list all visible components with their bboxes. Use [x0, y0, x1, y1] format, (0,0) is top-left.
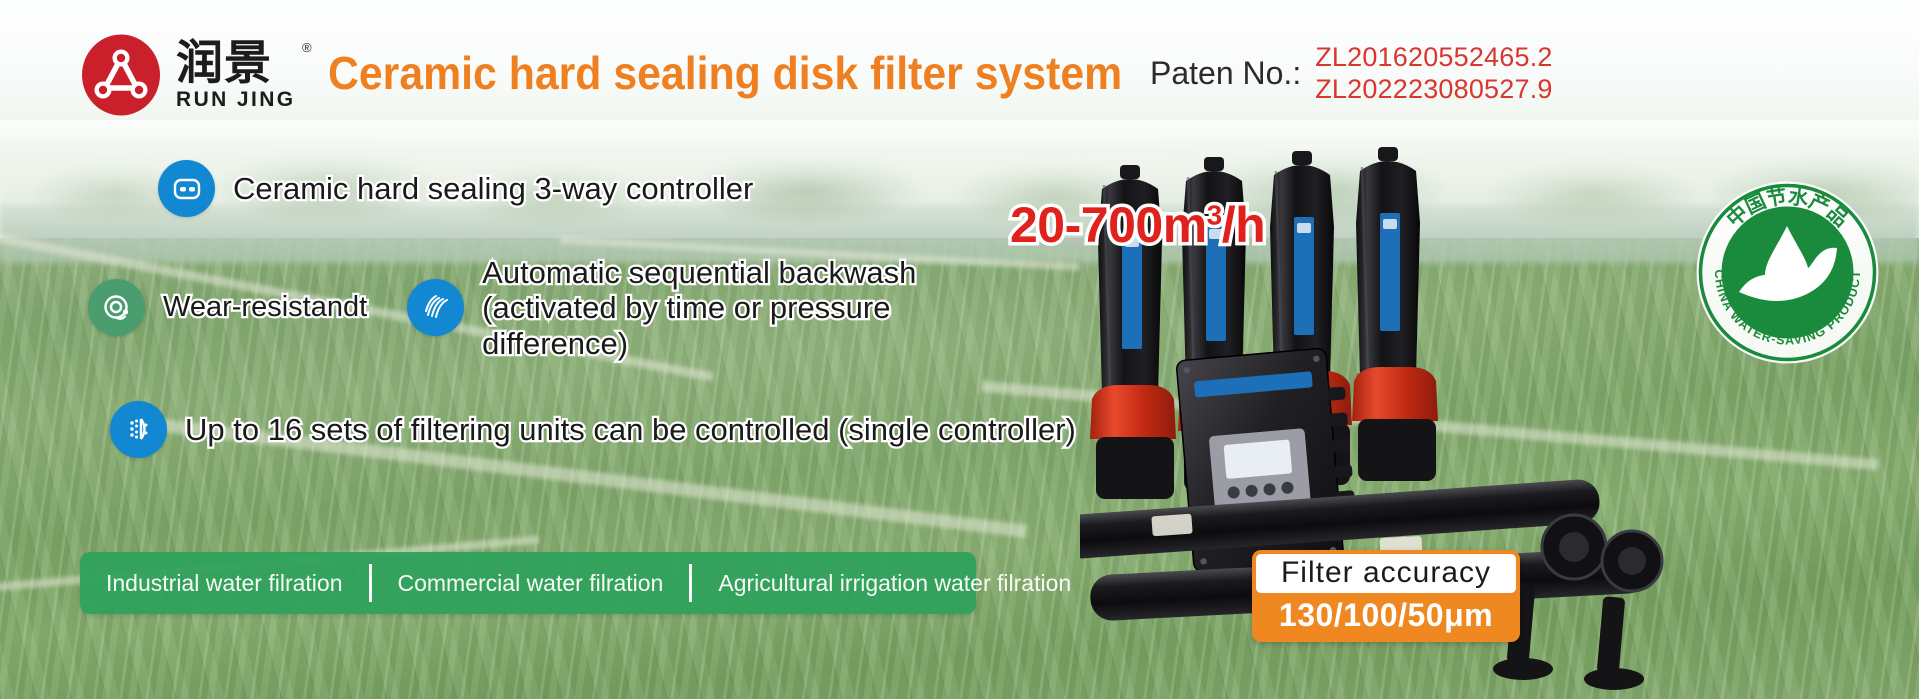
flow-rate-value: 20-700m3/h	[1010, 196, 1265, 254]
application-tag: Agricultural irrigation water filration	[692, 570, 1097, 597]
feature-item-units: Up to 16 sets of filtering units can be …	[110, 401, 1030, 458]
feature-label: Wear-resistandt	[163, 291, 367, 324]
feature-item-controller: Ceramic hard sealing 3-way controller	[158, 160, 1030, 217]
controller-icon	[158, 160, 215, 217]
backwash-waves-icon	[407, 279, 464, 336]
wear-ring-icon	[88, 279, 145, 336]
banner-header: 润景 ® RUN JING Ceramic hard sealing disk …	[0, 0, 1919, 145]
page-title: Ceramic hard sealing disk filter system	[328, 46, 1122, 100]
feature-label-line2: (activated by time or pressure differenc…	[482, 290, 1030, 361]
flow-rate-number: 20-700m	[1010, 197, 1207, 253]
brand-name-en: RUN JING	[176, 88, 296, 112]
patent-number: ZL201620552465.2	[1315, 42, 1552, 73]
application-tag: Industrial water filration	[80, 570, 369, 597]
feature-label-backwash: Automatic sequential backwash (activated…	[482, 255, 1030, 361]
feature-label: Up to 16 sets of filtering units can be …	[185, 412, 1076, 447]
application-tag-bar: Industrial water filration Commercial wa…	[80, 552, 976, 614]
patent-info: Paten No.: ZL201620552465.2 ZL2022230805…	[1150, 42, 1553, 105]
patent-label: Paten No.:	[1150, 55, 1301, 92]
brand-logo: 润景 ® RUN JING	[80, 34, 296, 116]
certification-badge: 中国节水产品 CHINA WATER-SAVING PRODUCT	[1695, 180, 1880, 365]
filter-accuracy-badge: Filter accuracy 130/100/50μm	[1252, 550, 1520, 642]
brand-name-cn: 润景	[176, 40, 296, 88]
accuracy-label: Filter accuracy	[1256, 554, 1516, 593]
feature-label: Ceramic hard sealing 3-way controller	[233, 171, 753, 206]
feature-row-group: Wear-resistandt Automatic sequential bac…	[88, 255, 1030, 361]
patent-number: ZL202223080527.9	[1315, 74, 1552, 105]
runjing-logo-icon	[80, 34, 162, 116]
application-tag: Commercial water filration	[372, 570, 690, 597]
feature-label-line1: Automatic sequential backwash	[482, 255, 1030, 290]
filter-units-icon	[110, 401, 167, 458]
registered-mark-icon: ®	[302, 40, 312, 55]
feature-list: Ceramic hard sealing 3-way controller We…	[0, 150, 1030, 458]
product-banner: 中国节水产品 CHINA WATER-SAVING PRODUCT	[0, 0, 1919, 699]
flow-rate-unit: /h	[1222, 197, 1265, 253]
flow-rate-exponent: 3	[1207, 199, 1222, 230]
accuracy-value: 130/100/50μm	[1256, 593, 1516, 638]
